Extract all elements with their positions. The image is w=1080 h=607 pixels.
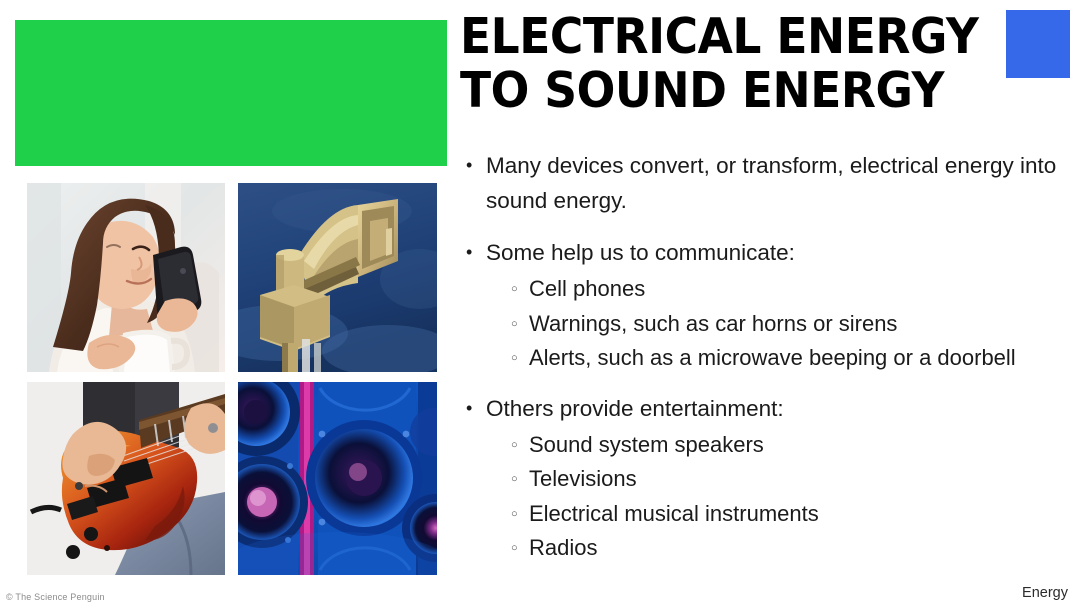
- copyright-credit: © The Science Penguin: [6, 592, 105, 602]
- photo-electric-guitar: [27, 382, 225, 575]
- sub-bullet-list: ○ Sound system speakers ○ Televisions ○ …: [466, 428, 1074, 566]
- sub-bullet-text: Cell phones: [529, 272, 1074, 307]
- bullet-text: Some help us to communicate:: [486, 235, 1074, 270]
- content-bullet-list: • Many devices convert, or transform, el…: [466, 148, 1074, 566]
- sub-bullet-text: Radios: [529, 531, 1074, 566]
- sub-bullet-marker-icon: ○: [511, 462, 529, 497]
- photo-woman-cellphone: [27, 183, 225, 372]
- bullet-text: Others provide entertainment:: [486, 391, 1074, 426]
- sub-bullet-list: ○ Cell phones ○ Warnings, such as car ho…: [466, 272, 1074, 376]
- slide: Electrical Energy to Sound Energy • Many…: [0, 0, 1080, 607]
- title-line-2: to Sound Energy: [460, 64, 962, 118]
- bullet-marker-icon: •: [466, 235, 486, 270]
- bullet-marker-icon: •: [466, 391, 486, 426]
- sub-bullet-text: Televisions: [529, 462, 1074, 497]
- sub-bullet-marker-icon: ○: [511, 428, 529, 463]
- sub-bullet-item: ○ Warnings, such as car horns or sirens: [511, 307, 1074, 342]
- bullet-item: • Many devices convert, or transform, el…: [466, 148, 1074, 218]
- photo-civil-defense-siren: [238, 183, 437, 372]
- sub-bullet-item: ○ Electrical musical instruments: [511, 497, 1074, 532]
- sub-bullet-text: Sound system speakers: [529, 428, 1074, 463]
- sub-bullet-text: Alerts, such as a microwave beeping or a…: [529, 341, 1074, 376]
- page-title: Electrical Energy to Sound Energy: [460, 10, 962, 118]
- blue-accent-square: [1006, 10, 1070, 78]
- page-label: Energy: [1022, 585, 1068, 601]
- title-line-1: Electrical Energy: [460, 10, 962, 64]
- sub-bullet-marker-icon: ○: [511, 341, 529, 376]
- sub-bullet-item: ○ Alerts, such as a microwave beeping or…: [511, 341, 1074, 376]
- sub-bullet-item: ○ Televisions: [511, 462, 1074, 497]
- bullet-item: • Others provide entertainment:: [466, 391, 1074, 426]
- sub-bullet-text: Warnings, such as car horns or sirens: [529, 307, 1074, 342]
- sub-bullet-marker-icon: ○: [511, 307, 529, 342]
- bullet-marker-icon: •: [466, 148, 486, 183]
- photo-sound-speakers: [238, 382, 437, 575]
- sub-bullet-marker-icon: ○: [511, 531, 529, 566]
- sub-bullet-item: ○ Radios: [511, 531, 1074, 566]
- sub-bullet-item: ○ Sound system speakers: [511, 428, 1074, 463]
- green-accent-block: [15, 20, 447, 166]
- bullet-text: Many devices convert, or transform, elec…: [486, 148, 1074, 218]
- sub-bullet-marker-icon: ○: [511, 497, 529, 532]
- sub-bullet-text: Electrical musical instruments: [529, 497, 1074, 532]
- sub-bullet-item: ○ Cell phones: [511, 272, 1074, 307]
- spacer: [466, 376, 1074, 391]
- bullet-item: • Some help us to communicate:: [466, 235, 1074, 270]
- sub-bullet-marker-icon: ○: [511, 272, 529, 307]
- photo-grid: [27, 183, 437, 575]
